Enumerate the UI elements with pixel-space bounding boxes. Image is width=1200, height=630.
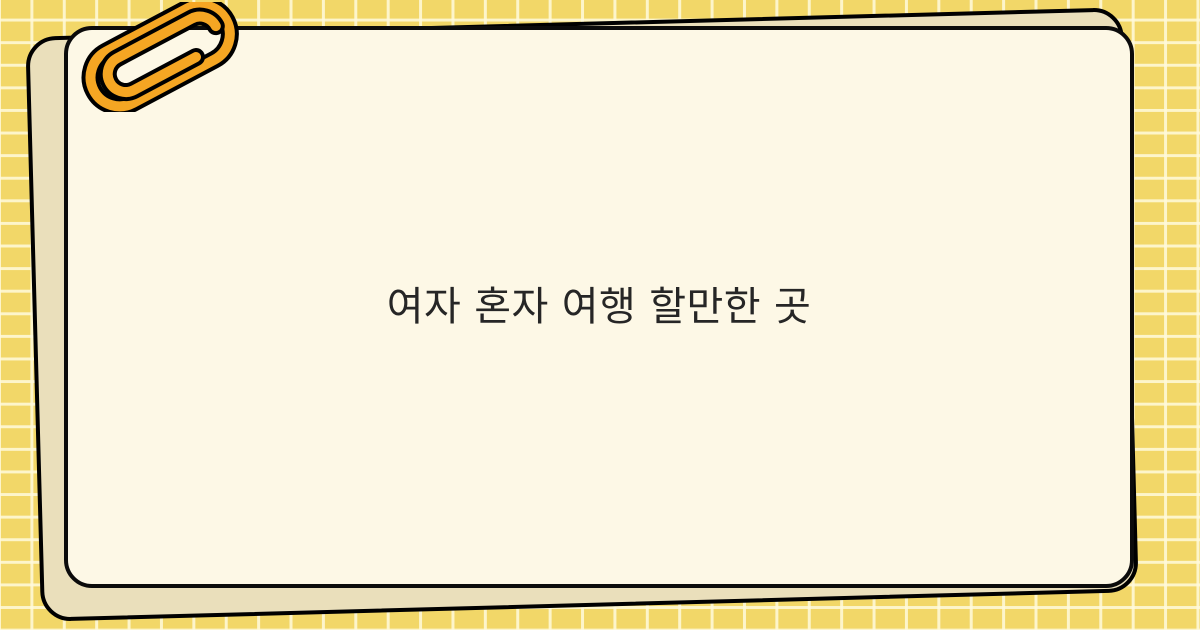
page-title: 여자 혼자 여행 할만한 곳	[327, 280, 871, 334]
thumbnail-canvas: 여자 혼자 여행 할만한 곳	[0, 0, 1200, 630]
card-front: 여자 혼자 여행 할만한 곳	[64, 26, 1134, 588]
